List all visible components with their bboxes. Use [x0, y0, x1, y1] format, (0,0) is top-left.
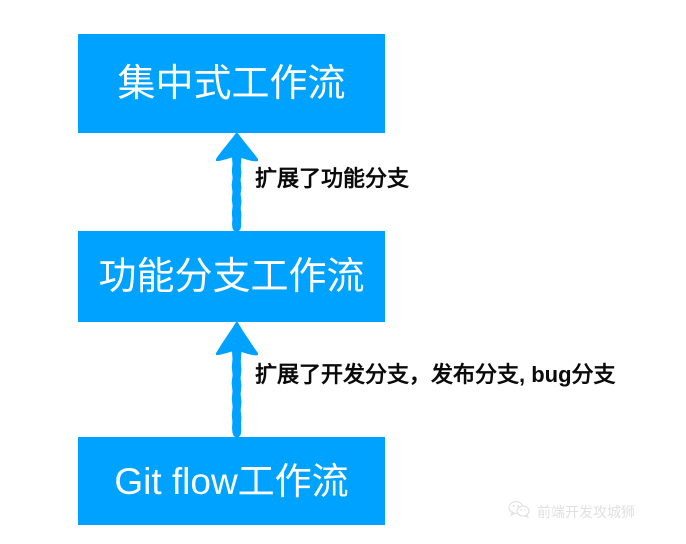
edge-label-gitflow-to-feature: 扩展了开发分支，发布分支, bug分支 — [255, 364, 616, 386]
node-label: 集中式工作流 — [117, 65, 345, 103]
diagram-canvas: 集中式工作流 扩展了功能分支 功能分支工作流 扩展了开发分支，发布分支, bug… — [0, 0, 686, 544]
wechat-chat-bubbles-icon — [508, 500, 530, 523]
node-label: Git flow工作流 — [114, 463, 348, 500]
watermark-text: 前端开发攻城狮 — [537, 505, 635, 519]
node-centralized-workflow[interactable]: 集中式工作流 — [78, 34, 385, 133]
node-feature-branch-workflow[interactable]: 功能分支工作流 — [78, 231, 385, 322]
edge-label-feature-to-centralized: 扩展了功能分支 — [255, 168, 409, 190]
node-git-flow-workflow[interactable]: Git flow工作流 — [78, 437, 385, 525]
watermark: 前端开发攻城狮 — [508, 500, 635, 523]
node-label: 功能分支工作流 — [98, 258, 364, 296]
